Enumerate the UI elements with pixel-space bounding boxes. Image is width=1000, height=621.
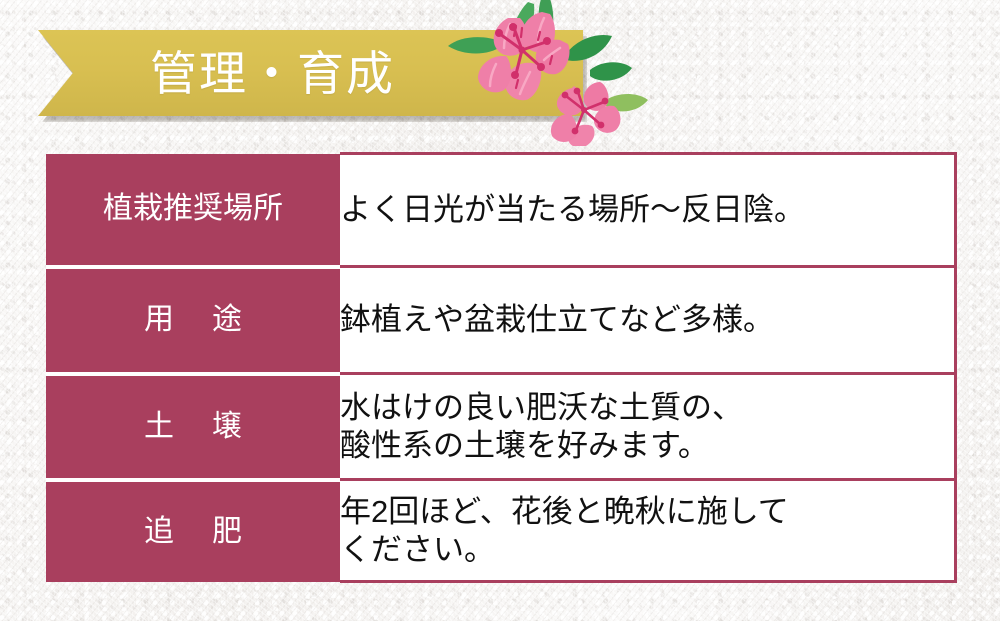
care-info-table: 植栽推奨場所 よく日光が当たる場所～反日陰。 用途 鉢植えや盆栽仕立てなど多様。… bbox=[46, 152, 957, 583]
value-line: ください。 bbox=[340, 531, 954, 569]
table-row: 追肥 年2回ほど、花後と晩秋に施して ください。 bbox=[46, 480, 956, 582]
row-value-planting-location: よく日光が当たる場所～反日陰。 bbox=[340, 154, 956, 267]
value-line: よく日光が当たる場所～反日陰。 bbox=[340, 191, 954, 229]
row-label-planting-location: 植栽推奨場所 bbox=[46, 154, 340, 267]
leaf-group-lower bbox=[590, 62, 648, 111]
section-banner: 管理・育成 bbox=[38, 30, 583, 116]
table-row: 植栽推奨場所 よく日光が当たる場所～反日陰。 bbox=[46, 154, 956, 267]
value-line: 水はけの良い肥沃な土質の、 bbox=[340, 389, 954, 427]
row-value-soil: 水はけの良い肥沃な土質の、 酸性系の土壌を好みます。 bbox=[340, 374, 956, 480]
value-line: 鉢植えや盆栽仕立てなど多様。 bbox=[340, 301, 954, 339]
page-title: 管理・育成 bbox=[150, 50, 395, 97]
value-line: 年2回ほど、花後と晩秋に施して bbox=[340, 493, 954, 531]
table-row: 用途 鉢植えや盆栽仕立てなど多様。 bbox=[46, 267, 956, 374]
label-text: 用途 bbox=[106, 301, 280, 339]
page-root: 管理・育成 bbox=[0, 0, 1000, 621]
row-label-fertilizer: 追肥 bbox=[46, 480, 340, 582]
banner-ribbon: 管理・育成 bbox=[38, 30, 583, 116]
row-value-usage: 鉢植えや盆栽仕立てなど多様。 bbox=[340, 267, 956, 374]
value-line: 酸性系の土壌を好みます。 bbox=[340, 427, 954, 465]
row-label-usage: 用途 bbox=[46, 267, 340, 374]
row-value-fertilizer: 年2回ほど、花後と晩秋に施して ください。 bbox=[340, 480, 956, 582]
row-label-soil: 土壌 bbox=[46, 374, 340, 480]
label-text: 土壌 bbox=[106, 408, 280, 446]
table-row: 土壌 水はけの良い肥沃な土質の、 酸性系の土壌を好みます。 bbox=[46, 374, 956, 480]
label-text: 植栽推奨場所 bbox=[103, 190, 283, 228]
label-text: 追肥 bbox=[106, 513, 280, 551]
